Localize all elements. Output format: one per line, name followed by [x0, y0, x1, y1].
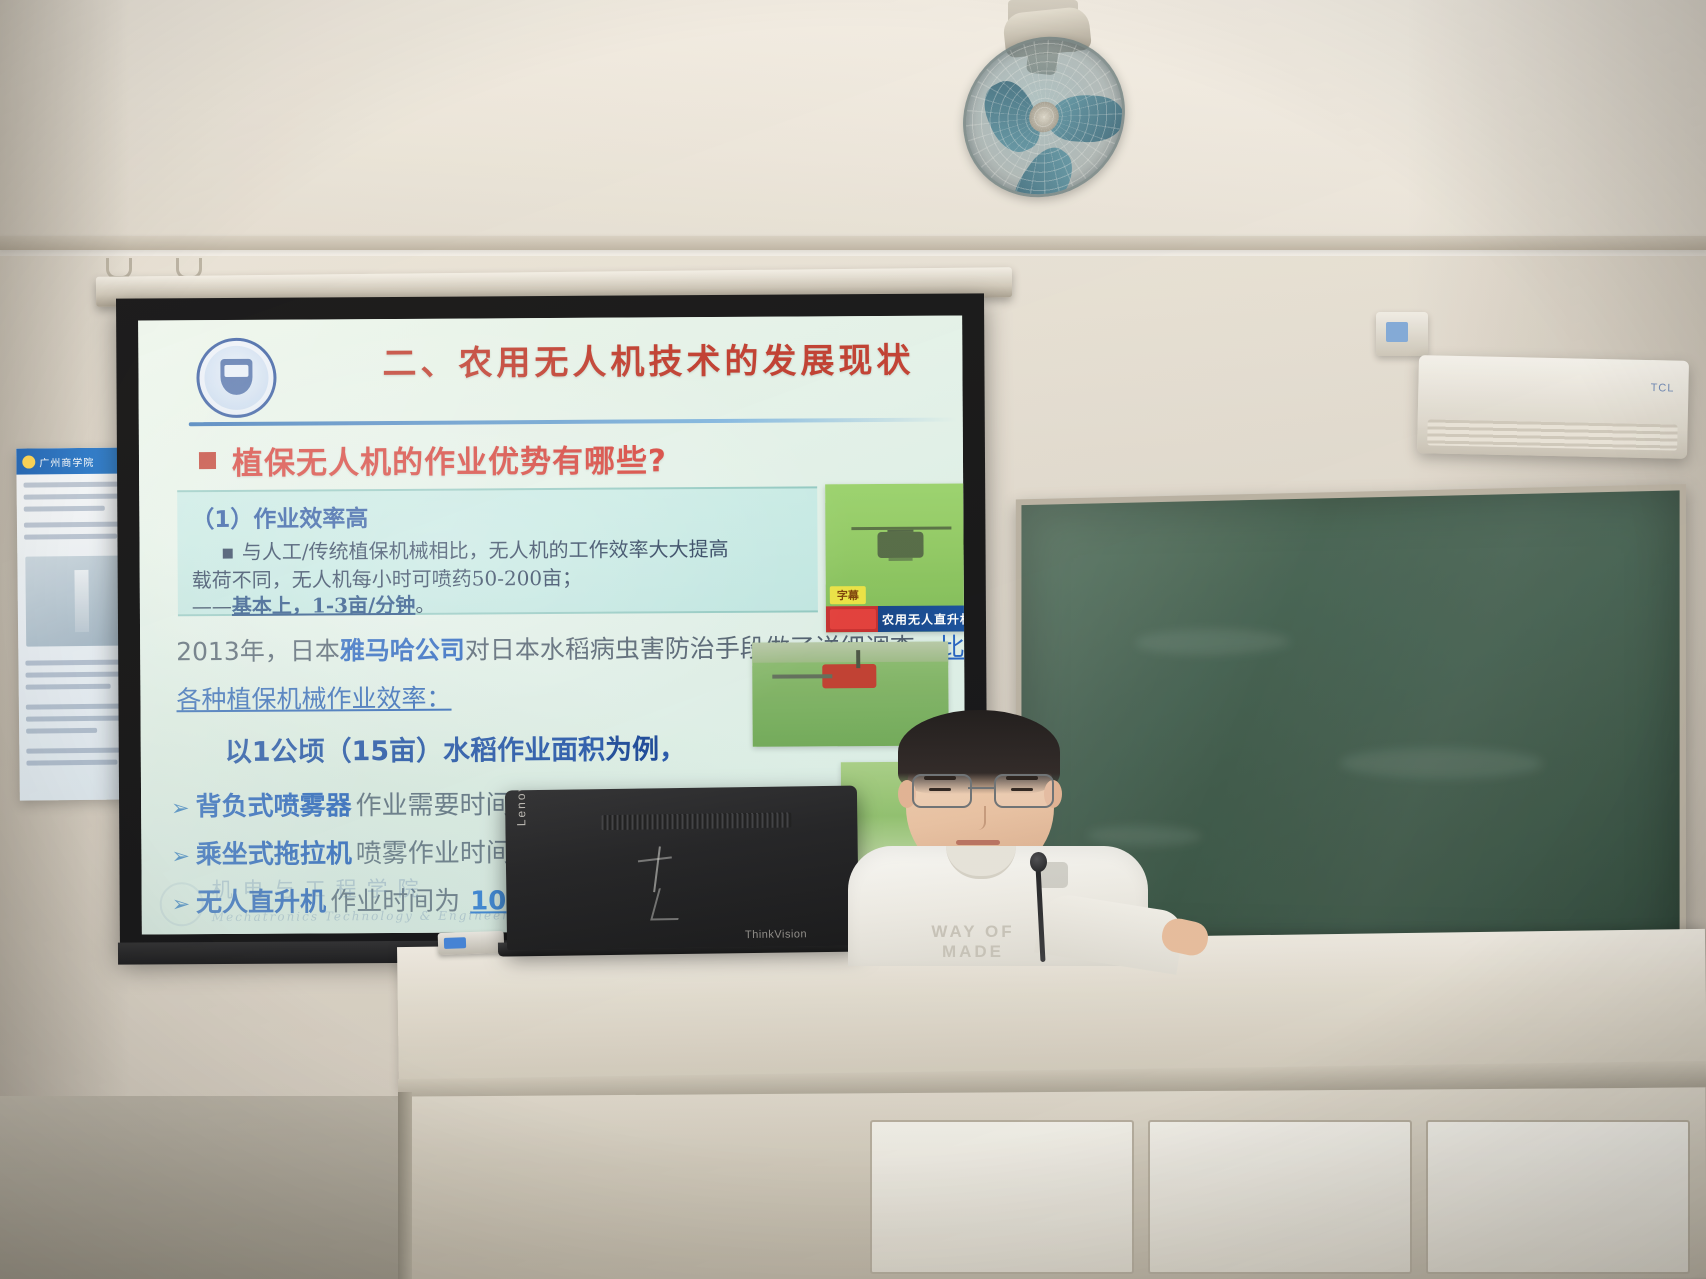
efficiency-callout-box: （1）作业效率高 ■与人工/传统植保机械相比，无人机的工作效率大大提高 载荷不同… — [177, 486, 818, 616]
lid-scratch-mark — [638, 856, 672, 862]
poster-emblem-icon — [22, 455, 35, 468]
anchor-jacket — [964, 545, 966, 607]
dash-prefix: —— — [192, 594, 232, 618]
tv-channel-label — [830, 609, 876, 629]
example-area-b: 为例 — [605, 734, 659, 765]
poster-text-line — [24, 506, 105, 512]
tv-news-thumbnail: 字幕 农用无人直升机作业 工作效率可达60倍 — [825, 483, 966, 632]
poster-text-line — [26, 760, 117, 766]
yamaha-highlight: 雅马哈公司 — [340, 636, 465, 666]
photo-horizon — [752, 642, 948, 663]
callout-bullet-text-1: 与人工/传统植保机械相比，无人机的工作效率大大提高 — [242, 537, 729, 564]
ac-vent-louvers — [1427, 419, 1677, 450]
underlined-rate: 基本上，1-3亩/分钟 — [232, 593, 416, 618]
item-key: 背负式喷雾器 — [195, 785, 351, 823]
callout-heading: （1）作业效率高 — [191, 499, 368, 534]
poster-text-line — [26, 684, 111, 690]
eyebrow — [924, 776, 956, 780]
drone-helicopter-icon — [877, 532, 923, 558]
example-area-a: 以1公顷（15亩）水稻作业面积 — [225, 735, 606, 768]
poster-title: 广州商学院 — [39, 453, 94, 469]
eyeglasses-icon — [906, 774, 1056, 806]
item-key: 乘坐式拖拉机 — [196, 833, 352, 871]
lid-scratch-mark — [653, 846, 661, 892]
slide-title: 二、农用无人机技术的发展现状 — [338, 336, 958, 391]
laptop-vent-grille — [601, 812, 791, 830]
tv-news-anchor — [961, 493, 966, 606]
eye — [1011, 788, 1033, 791]
eyebrow — [1006, 776, 1038, 780]
callout-bullet-line-1: ■与人工/传统植保机械相比，无人机的工作效率大大提高 — [221, 533, 728, 565]
callout-bullet-line-3: ——基本上，1-3亩/分钟。 — [192, 589, 436, 619]
small-bullet-icon: ■ — [222, 546, 234, 561]
wall-sensor-box — [1376, 312, 1428, 356]
floor-area — [0, 1096, 404, 1279]
footer-logo-icon — [160, 882, 204, 926]
tshirt-print-text: WAY OF MADE — [898, 922, 1048, 962]
square-bullet-icon — [199, 452, 216, 469]
podium-panel — [1148, 1120, 1412, 1274]
clicker-button-icon[interactable] — [444, 937, 466, 949]
presenter: WAY OF MADE — [862, 706, 1152, 956]
slide-subtitle-text: 植保无人机的作业优势有哪些? — [232, 435, 667, 483]
glasses-bridge — [968, 787, 994, 789]
laptop-brand-label: Lenovo — [514, 786, 529, 827]
classroom-photo: TCL 广州商学院 — [0, 0, 1706, 1279]
eye — [929, 788, 951, 791]
arrow-bullet-icon: ➢ — [171, 796, 190, 821]
sprayer-machine-icon — [822, 664, 876, 688]
footer-school-cn: 机电与工程学院 — [212, 873, 429, 904]
air-conditioner-unit: TCL — [1417, 355, 1689, 459]
laptop-model-label: ThinkVision — [745, 928, 807, 941]
podium-panel — [1426, 1120, 1690, 1274]
arrow-bullet-icon: ➢ — [171, 844, 190, 869]
poster-text-line — [26, 728, 97, 734]
paragraph-lead: 2013年，日本 — [176, 636, 340, 666]
tv-ticker-text: 农用无人直升机作业 工作效率可达60倍 — [882, 609, 966, 627]
laptop-lid: Lenovo ThinkVision — [505, 786, 859, 951]
slide-subtitle: 植保无人机的作业优势有哪些? — [199, 435, 667, 483]
presentation-clicker[interactable] — [438, 931, 505, 955]
microphone-icon — [1030, 852, 1047, 872]
title-divider — [189, 418, 957, 427]
podium-left-edge — [398, 1092, 412, 1279]
sensor-indicator-icon — [1386, 322, 1408, 342]
example-area-c: ， — [659, 734, 686, 765]
ac-brand-label: TCL — [1651, 382, 1675, 394]
lid-scratch-mark — [650, 888, 687, 921]
presenter-nose — [968, 806, 986, 830]
university-logo-icon — [196, 338, 276, 418]
poster-text-line — [24, 534, 117, 540]
period-suffix: 。 — [415, 593, 435, 617]
example-area-line: 以1公顷（15亩）水稻作业面积为例， — [225, 727, 687, 769]
podium-panel — [870, 1120, 1134, 1274]
comparison-subject-line: 各种植保机械作业效率： — [176, 679, 451, 717]
presenter-mouth — [956, 840, 1000, 845]
poster-tower-graphic — [74, 570, 89, 632]
tv-top-tag: 字幕 — [830, 586, 866, 604]
footer-school-en: Mechatronics Technology & Engineering — [212, 908, 535, 924]
